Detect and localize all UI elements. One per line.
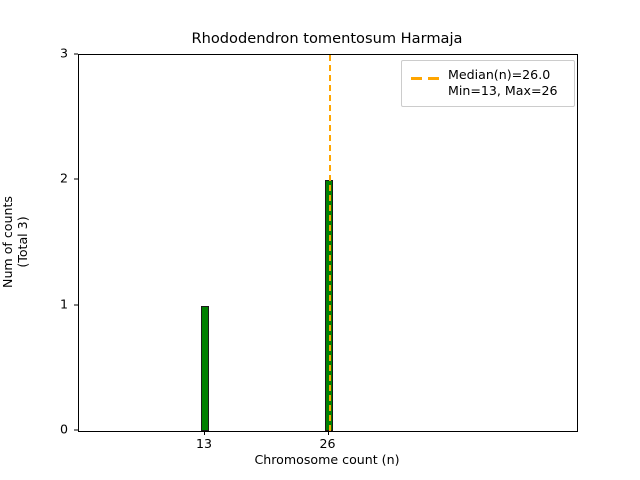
legend-label-median: Median(n)=26.0 (448, 67, 566, 83)
x-tick-label-26: 26 (319, 438, 335, 451)
legend-label-minmax: Min=13, Max=26 (448, 83, 566, 99)
x-axis-label: Chromosome count (n) (78, 452, 576, 467)
legend-entry-text: Median(n)=26.0 Min=13, Max=26 (444, 67, 566, 99)
bar-13 (201, 306, 209, 431)
y-tick-label-3: 3 (60, 48, 68, 61)
y-tick-label-2: 2 (60, 173, 68, 186)
x-tick-label-13: 13 (196, 438, 212, 451)
x-tick-mark-26 (328, 431, 329, 435)
y-tick-label-0: 0 (60, 424, 68, 437)
legend-dash-2 (428, 77, 439, 80)
y-axis-ticks: 0 1 2 3 (0, 54, 78, 430)
legend-dash-1 (411, 77, 422, 80)
y-tick-label-1: 1 (60, 298, 68, 311)
chart-title: Rhododendron tomentosum Harmaja (78, 30, 576, 47)
figure-canvas: Rhododendron tomentosum Harmaja Num of c… (0, 0, 640, 480)
x-tick-mark-13 (204, 431, 205, 435)
legend[interactable]: Median(n)=26.0 Min=13, Max=26 (401, 60, 575, 107)
plot-inner (79, 55, 577, 431)
legend-swatch-median-line (410, 70, 444, 86)
plot-area: Median(n)=26.0 Min=13, Max=26 (78, 54, 578, 432)
median-line (329, 55, 331, 431)
